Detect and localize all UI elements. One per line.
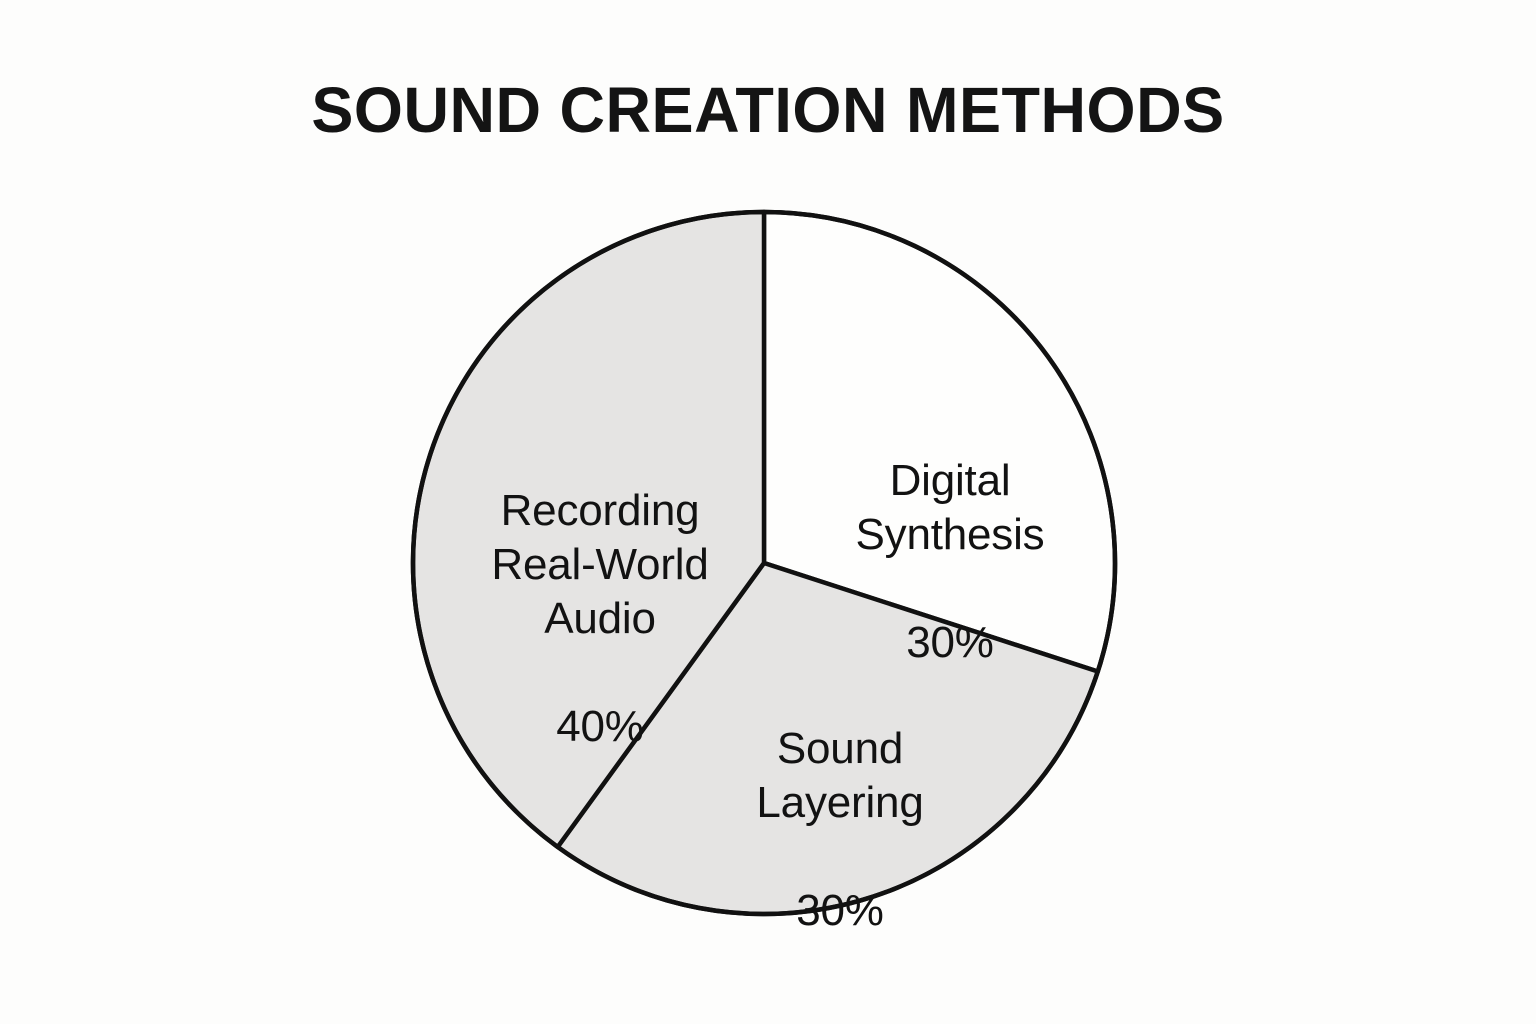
slice-label-layering-name: Sound Layering [680,722,1000,830]
slice-label-recording-name: Recording Real-World Audio [410,484,790,646]
pie-chart-figure: SOUND CREATION METHODS Recording Real-Wo… [0,0,1536,1024]
slice-label-sound-layering: Sound Layering 30% [680,668,1000,992]
slice-label-digital-percent: 30% [800,616,1100,670]
slice-label-layering-percent: 30% [680,884,1000,938]
slice-label-digital-name: Digital Synthesis [800,454,1100,562]
